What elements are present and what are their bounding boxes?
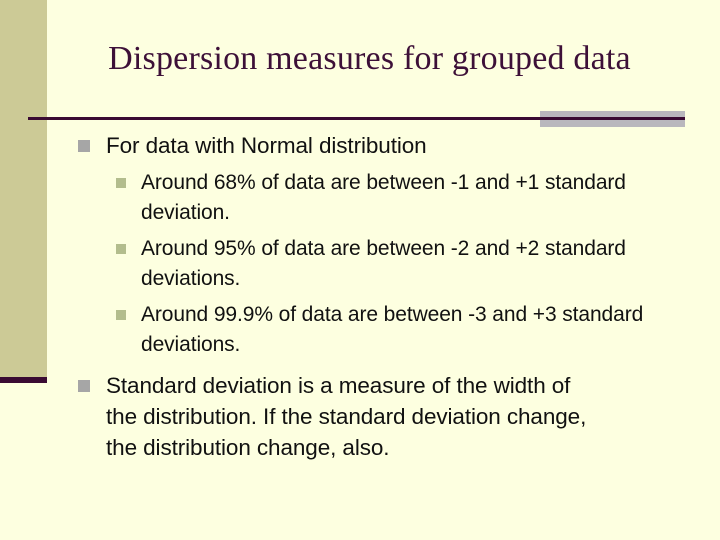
bullet-square-icon — [116, 244, 126, 254]
bullet-item-0: For data with Normal distribution — [0, 130, 720, 161]
bullet-item-4: Standard deviation is a measure of the w… — [0, 370, 720, 463]
bullet-square-icon — [116, 178, 126, 188]
bullet-text: For data with Normal distribution — [106, 130, 720, 161]
slide-canvas: Dispersion measures for grouped data For… — [0, 0, 720, 540]
title-divider-rule — [28, 117, 685, 120]
bullet-square-icon — [78, 140, 90, 152]
bullet-item-2: Around 95% of data are between -2 and +2… — [0, 234, 720, 294]
bullet-item-3: Around 99.9% of data are between -3 and … — [0, 300, 720, 360]
slide-title: Dispersion measures for grouped data — [47, 38, 692, 80]
bullet-text: Around 68% of data are between -1 and +1… — [141, 168, 701, 228]
bullet-text: Around 95% of data are between -2 and +2… — [141, 234, 701, 294]
bullet-square-icon — [116, 310, 126, 320]
bullet-square-icon — [78, 380, 90, 392]
bullet-text: Standard deviation is a measure of the w… — [106, 370, 606, 463]
bullet-item-1: Around 68% of data are between -1 and +1… — [0, 168, 720, 228]
bullet-text: Around 99.9% of data are between -3 and … — [141, 300, 701, 360]
slide-body: For data with Normal distribution Around… — [0, 130, 720, 465]
spacer — [0, 361, 720, 370]
